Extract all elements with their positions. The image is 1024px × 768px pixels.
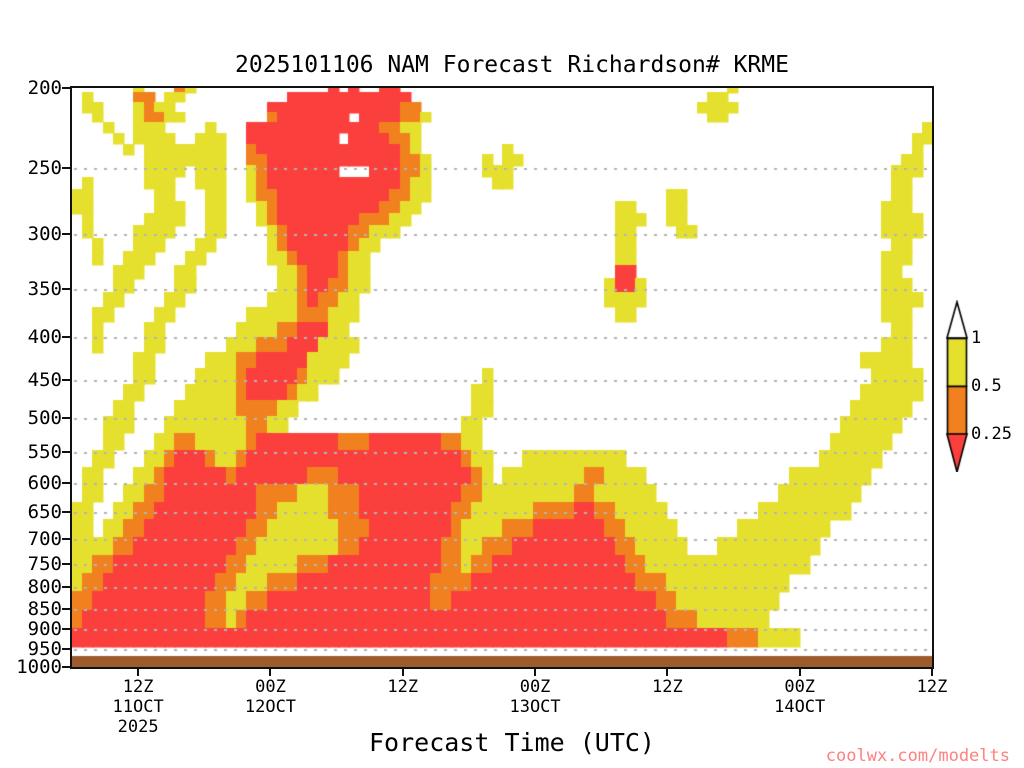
colorbar-tick-label: 0.5 <box>971 376 1002 396</box>
colorbar-tick-label: 1 <box>971 328 981 348</box>
y-axis-tick-label: 700 <box>28 528 62 550</box>
credit-watermark: coolwx.com/modelts <box>826 746 1010 766</box>
y-axis-tick-mark <box>62 482 70 484</box>
y-axis-tick-mark <box>62 628 70 630</box>
y-axis-tick-label: 800 <box>28 576 62 598</box>
x-axis-tick-label: 12Z <box>652 677 683 697</box>
y-axis: 2002503003504004505005506006507007508008… <box>0 86 70 669</box>
y-axis-tick-label: 450 <box>28 369 62 391</box>
y-axis-tick-label: 250 <box>28 157 62 179</box>
colorbar-tick-label: 0.25 <box>971 424 1012 444</box>
y-axis-tick-mark <box>62 417 70 419</box>
x-axis-tick-label: 12OCT <box>245 697 296 717</box>
plot-area <box>70 86 934 669</box>
x-axis-tick-mark <box>666 669 668 676</box>
x-axis-tick-mark <box>799 669 801 676</box>
x-axis-tick-mark <box>137 669 139 676</box>
y-axis-tick-mark <box>62 451 70 453</box>
y-axis-tick-label: 1000 <box>16 656 62 678</box>
y-axis-tick-mark <box>62 648 70 650</box>
x-axis-tick-mark <box>931 669 933 676</box>
y-axis-tick-mark <box>62 511 70 513</box>
x-axis-tick-label: 12Z <box>123 677 154 697</box>
heatmap-canvas <box>72 88 932 667</box>
x-axis-tick-mark <box>534 669 536 676</box>
x-axis-tick-mark <box>269 669 271 676</box>
y-axis-tick-label: 350 <box>28 278 62 300</box>
y-axis-tick-label: 300 <box>28 223 62 245</box>
x-axis-tick-label: 00Z <box>784 677 815 697</box>
y-axis-tick-label: 550 <box>28 441 62 463</box>
y-axis-tick-mark <box>62 87 70 89</box>
y-axis-tick-label: 600 <box>28 472 62 494</box>
chart-page: 2025101106 NAM Forecast Richardson# KRME… <box>0 0 1024 768</box>
y-axis-tick-mark <box>62 538 70 540</box>
x-axis-tick-label: 00Z <box>255 677 286 697</box>
y-axis-tick-mark <box>62 586 70 588</box>
x-axis-tick-label: 14OCT <box>774 697 825 717</box>
y-axis-tick-mark <box>62 167 70 169</box>
x-axis-tick-label: 00Z <box>520 677 551 697</box>
x-axis-tick-label: 13OCT <box>509 697 560 717</box>
x-axis-tick-label: 12Z <box>387 677 418 697</box>
y-axis-tick-mark <box>62 233 70 235</box>
y-axis-tick-mark <box>62 608 70 610</box>
y-axis-tick-label: 750 <box>28 553 62 575</box>
y-axis-tick-mark <box>62 666 70 668</box>
y-axis-tick-mark <box>62 379 70 381</box>
x-axis-tick-mark <box>402 669 404 676</box>
chart-title: 2025101106 NAM Forecast Richardson# KRME <box>0 52 1024 78</box>
y-axis-tick-label: 500 <box>28 407 62 429</box>
colorbar-canvas <box>941 300 973 472</box>
y-axis-tick-label: 850 <box>28 598 62 620</box>
y-axis-tick-mark <box>62 336 70 338</box>
x-axis-tick-label: 12Z <box>917 677 948 697</box>
y-axis-tick-mark <box>62 288 70 290</box>
y-axis-tick-label: 650 <box>28 501 62 523</box>
y-axis-tick-label: 200 <box>28 77 62 99</box>
y-axis-tick-label: 400 <box>28 326 62 348</box>
x-axis-tick-label: 11OCT <box>113 697 164 717</box>
colorbar-legend: 10.50.25 <box>941 300 1024 472</box>
y-axis-tick-mark <box>62 563 70 565</box>
